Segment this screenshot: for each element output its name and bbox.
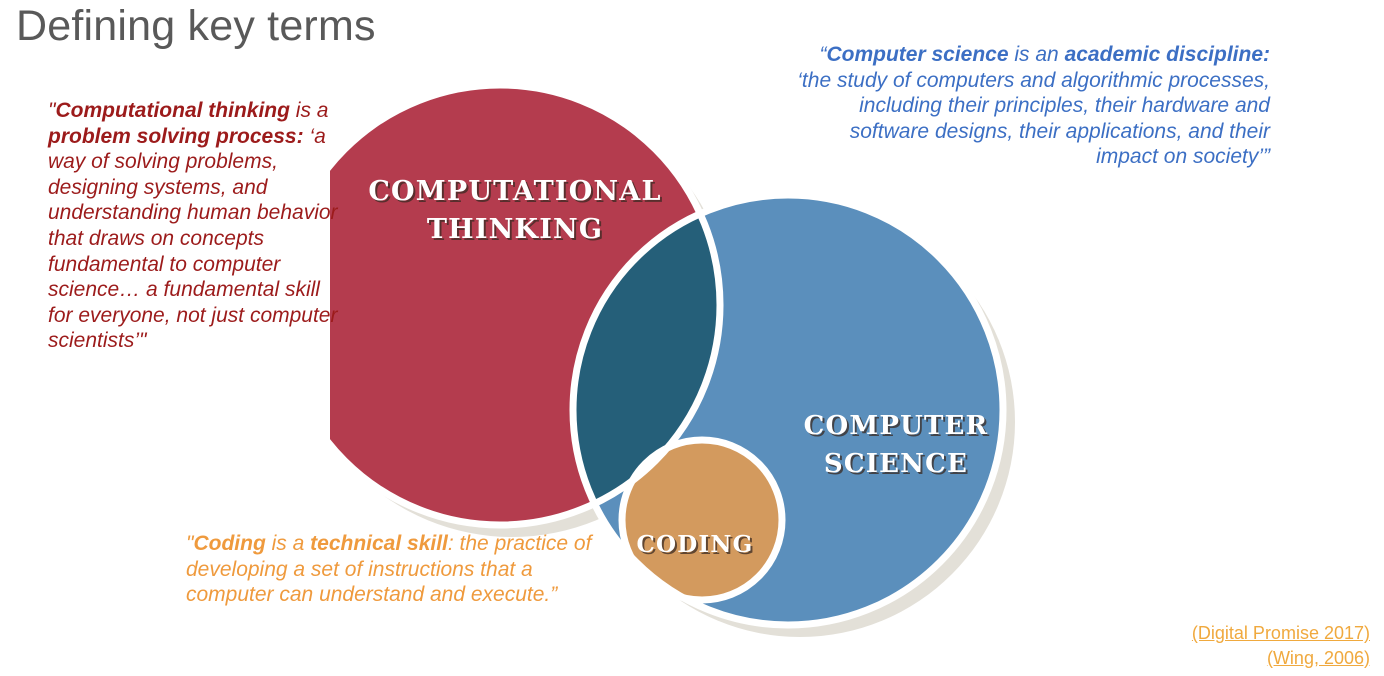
quote-computational-thinking: "Computational thinking is a problem sol… — [48, 98, 338, 354]
quote-cs-bold-term: Computer science — [826, 43, 1008, 66]
quote-coding: "Coding is a technical skill: the practi… — [186, 531, 606, 608]
label-coding: CODING CODING — [637, 531, 756, 560]
quote-ct-bold-term: Computational thinking — [55, 99, 289, 122]
quote-ct-body: ‘a way of solving problems, designing sy… — [48, 125, 338, 353]
quote-coding-bold-term: Coding — [193, 532, 265, 555]
quote-computer-science: “Computer science is an academic discipl… — [790, 42, 1270, 170]
label-coding-text: CODING — [637, 531, 754, 558]
quote-cs-body: ‘the study of computers and algorithmic … — [797, 69, 1270, 169]
label-ct-line2: THINKING — [427, 214, 603, 245]
page-title: Defining key terms — [16, 2, 376, 51]
quote-ct-connector: is a — [290, 99, 329, 122]
quote-cs-connector: is an — [1009, 43, 1065, 66]
quote-coding-bold-phrase: technical skill — [310, 532, 448, 555]
quote-cs-bold-phrase: academic discipline: — [1065, 43, 1270, 66]
label-cs-line2: SCIENCE — [824, 449, 968, 479]
quote-coding-connector: is a — [266, 532, 310, 555]
citation-link-wing[interactable]: (Wing, 2006) — [1192, 646, 1370, 670]
label-ct-line1: COMPUTATIONAL — [368, 176, 661, 207]
citation-link-digital-promise[interactable]: (Digital Promise 2017) — [1192, 621, 1370, 645]
quote-ct-bold-phrase: problem solving process: — [48, 125, 304, 148]
citations: (Digital Promise 2017) (Wing, 2006) — [1192, 621, 1370, 670]
label-cs-line1: COMPUTER — [804, 411, 989, 441]
